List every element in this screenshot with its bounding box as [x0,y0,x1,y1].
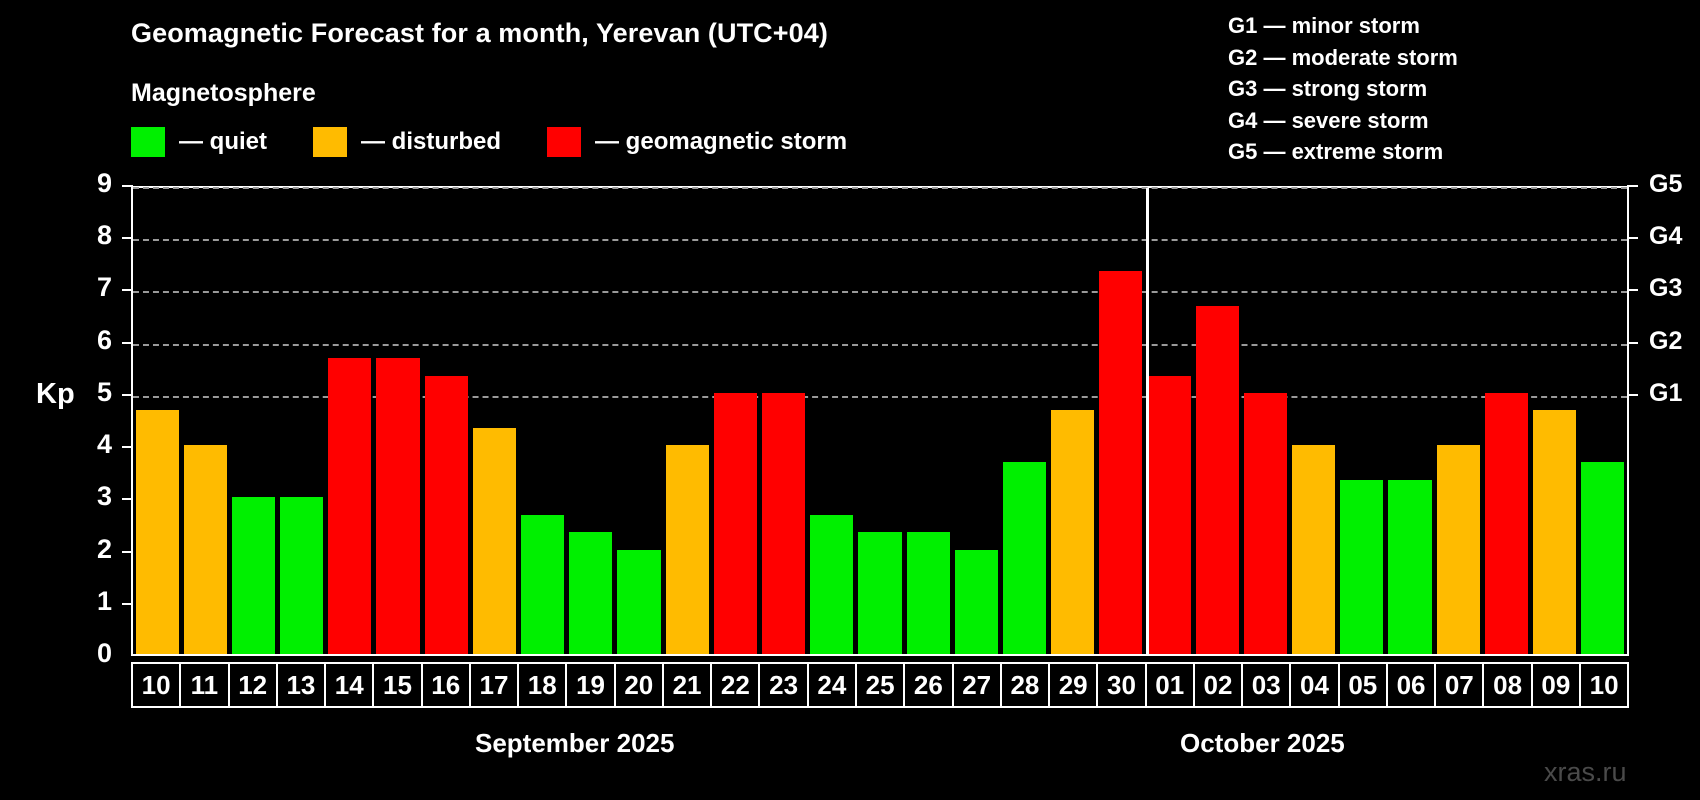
day-label-september-22[interactable]: 22 [712,664,760,706]
day-label-september-24[interactable]: 24 [809,664,857,706]
day-label-september-27[interactable]: 27 [954,664,1002,706]
bar-september-16[interactable] [425,376,468,654]
y-axis-title: Kp [36,378,75,411]
bar-september-12[interactable] [232,497,275,654]
bar-september-20[interactable] [617,550,660,654]
bar-cell[interactable] [1193,188,1241,654]
bar-october-06[interactable] [1388,480,1431,654]
legend-swatch-storm [547,127,581,157]
y-tick-label-7: 7 [72,272,112,303]
day-label-october-02[interactable]: 02 [1195,664,1243,706]
bar-cell[interactable] [1097,188,1145,654]
bar-september-23[interactable] [762,393,805,654]
legend-label-quiet: — quiet [179,128,267,156]
day-label-september-14[interactable]: 14 [326,664,374,706]
g-axis-label-G2: G2 [1649,327,1682,356]
day-label-october-06[interactable]: 06 [1388,664,1436,706]
bar-october-05[interactable] [1340,480,1383,654]
bar-october-09[interactable] [1533,410,1576,654]
bar-cell[interactable] [808,188,856,654]
bar-september-28[interactable] [1003,462,1046,654]
bar-cell[interactable] [759,188,807,654]
bar-cell[interactable] [904,188,952,654]
bar-october-10[interactable] [1581,462,1624,654]
bar-cell[interactable] [711,188,759,654]
y-tick-label-0: 0 [72,638,112,669]
gscale-legend: G1 — minor storm G2 — moderate storm G3 … [1228,10,1458,168]
gscale-row-g3: G3 — strong storm [1228,73,1458,105]
bar-september-25[interactable] [858,532,901,654]
g-axis-label-G1: G1 [1649,379,1682,408]
day-label-october-07[interactable]: 07 [1436,664,1484,706]
watermark: xras.ru [1544,757,1627,788]
y-tick-label-2: 2 [72,534,112,565]
bar-september-15[interactable] [376,358,419,654]
y-tick-label-4: 4 [72,429,112,460]
bar-october-01[interactable] [1147,376,1190,654]
plot-area [131,186,1629,656]
bar-cell[interactable] [1290,188,1338,654]
bar-cell[interactable] [1338,188,1386,654]
gscale-row-g1: G1 — minor storm [1228,10,1458,42]
bar-cell[interactable] [278,188,326,654]
bar-cell[interactable] [1579,188,1627,654]
bar-september-18[interactable] [521,515,564,654]
bar-cell[interactable] [519,188,567,654]
bar-cell[interactable] [567,188,615,654]
bar-october-04[interactable] [1292,445,1335,654]
month-label-left: September 2025 [475,728,674,759]
bar-september-27[interactable] [955,550,998,654]
day-label-september-28[interactable]: 28 [1002,664,1050,706]
bar-cell[interactable] [1434,188,1482,654]
bar-september-10[interactable] [136,410,179,654]
day-label-october-05[interactable]: 05 [1340,664,1388,706]
bar-september-29[interactable] [1051,410,1094,654]
x-axis-day-labels: 1011121314151617181920212223242526272829… [131,662,1629,708]
legend-label-storm: — geomagnetic storm [595,128,847,156]
day-label-october-10[interactable]: 10 [1581,664,1627,706]
day-label-september-26[interactable]: 26 [905,664,953,706]
y-tick-label-1: 1 [72,586,112,617]
bar-cell[interactable] [470,188,518,654]
y-tick-label-5: 5 [72,377,112,408]
bar-cell[interactable] [856,188,904,654]
bar-october-02[interactable] [1196,306,1239,654]
bar-cell[interactable] [1482,188,1530,654]
gscale-row-g4: G4 — severe storm [1228,105,1458,137]
bar-september-30[interactable] [1099,271,1142,654]
bar-cell[interactable] [663,188,711,654]
day-label-september-13[interactable]: 13 [278,664,326,706]
y-tick-label-9: 9 [72,168,112,199]
day-label-october-04[interactable]: 04 [1291,664,1339,706]
bar-september-19[interactable] [569,532,612,654]
bar-cell[interactable] [181,188,229,654]
legend-item-disturbed: — disturbed [313,127,501,157]
day-label-september-25[interactable]: 25 [857,664,905,706]
legend-heading: Magnetosphere [131,79,316,108]
bar-september-13[interactable] [280,497,323,654]
bar-october-07[interactable] [1437,445,1480,654]
bar-october-03[interactable] [1244,393,1287,654]
bar-cell[interactable] [615,188,663,654]
bar-cell[interactable] [1000,188,1048,654]
chart-canvas: Geomagnetic Forecast for a month, Yereva… [0,0,1700,800]
legend-swatch-disturbed [313,127,347,157]
bar-september-24[interactable] [810,515,853,654]
bar-cell[interactable] [374,188,422,654]
bar-september-22[interactable] [714,393,757,654]
day-label-september-21[interactable]: 21 [664,664,712,706]
month-divider [1146,188,1149,654]
bar-september-14[interactable] [328,358,371,654]
y-tick-label-6: 6 [72,325,112,356]
day-label-september-20[interactable]: 20 [616,664,664,706]
bar-october-08[interactable] [1485,393,1528,654]
day-label-september-17[interactable]: 17 [471,664,519,706]
y-tick-label-3: 3 [72,481,112,512]
bar-cell[interactable] [1386,188,1434,654]
day-label-september-30[interactable]: 30 [1098,664,1146,706]
bar-series [133,188,1627,654]
day-label-october-09[interactable]: 09 [1533,664,1581,706]
legend-swatch-quiet [131,127,165,157]
gscale-row-g2: G2 — moderate storm [1228,42,1458,74]
day-label-september-16[interactable]: 16 [423,664,471,706]
bar-cell[interactable] [229,188,277,654]
bar-september-11[interactable] [184,445,227,654]
bar-cell[interactable] [1049,188,1097,654]
day-label-september-19[interactable]: 19 [567,664,615,706]
day-label-september-10[interactable]: 10 [133,664,181,706]
day-label-october-03[interactable]: 03 [1243,664,1291,706]
bar-cell[interactable] [326,188,374,654]
bar-september-26[interactable] [907,532,950,654]
bar-cell[interactable] [133,188,181,654]
page-title: Geomagnetic Forecast for a month, Yereva… [131,18,828,49]
legend-label-disturbed: — disturbed [361,128,501,156]
bar-cell[interactable] [952,188,1000,654]
bar-cell[interactable] [1145,188,1193,654]
legend-item-quiet: — quiet [131,127,267,157]
month-label-right: October 2025 [1180,728,1345,759]
day-label-september-11[interactable]: 11 [181,664,229,706]
legend-item-storm: — geomagnetic storm [547,127,847,157]
day-label-september-15[interactable]: 15 [374,664,422,706]
g-axis-label-G3: G3 [1649,274,1682,303]
day-label-october-08[interactable]: 08 [1484,664,1532,706]
magnetosphere-legend: — quiet — disturbed — geomagnetic storm [131,127,847,157]
day-label-september-23[interactable]: 23 [760,664,808,706]
day-label-september-12[interactable]: 12 [230,664,278,706]
y-tick-label-8: 8 [72,220,112,251]
bar-cell[interactable] [1530,188,1578,654]
day-label-september-18[interactable]: 18 [519,664,567,706]
bar-september-21[interactable] [666,445,709,654]
g-axis-label-G5: G5 [1649,170,1682,199]
day-label-september-29[interactable]: 29 [1050,664,1098,706]
bar-cell[interactable] [1241,188,1289,654]
g-axis-label-G4: G4 [1649,222,1682,251]
bar-september-17[interactable] [473,428,516,654]
gscale-row-g5: G5 — extreme storm [1228,136,1458,168]
bar-cell[interactable] [422,188,470,654]
day-label-october-01[interactable]: 01 [1147,664,1195,706]
